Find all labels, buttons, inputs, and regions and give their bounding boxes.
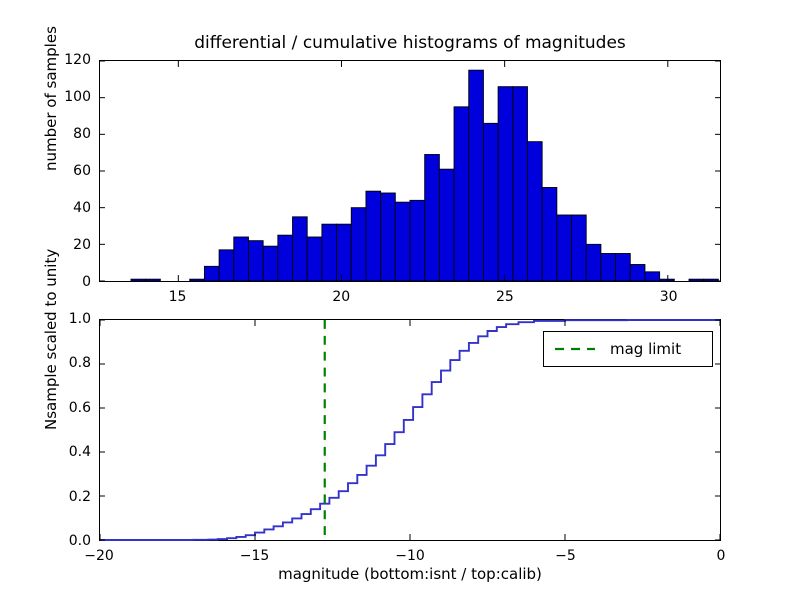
- histogram-bar: [425, 155, 440, 282]
- histogram-bar: [146, 279, 161, 281]
- histogram-bar: [131, 279, 146, 281]
- y-tick-label: 60: [35, 164, 91, 178]
- differential-histogram-axes: [99, 60, 721, 282]
- histogram-bar: [527, 142, 542, 281]
- figure-canvas: differential / cumulative histograms of …: [0, 0, 800, 600]
- histogram-bar: [498, 87, 513, 281]
- y-tick-label: 0.8: [35, 356, 91, 370]
- y-tick-label: 0.2: [35, 490, 91, 504]
- histogram-bar: [381, 193, 396, 281]
- bottom-axis-xlabel: magnitude (bottom:isnt / top:calib): [99, 565, 721, 583]
- y-tick-label: 0.4: [35, 445, 91, 459]
- y-tick-label: 40: [35, 201, 91, 215]
- histogram-bar: [234, 237, 249, 281]
- histogram-bar: [513, 87, 528, 281]
- x-tick-label: 30: [629, 290, 709, 304]
- x-tick-label: 0: [681, 549, 761, 563]
- histogram-bar: [586, 244, 601, 281]
- legend: mag limit: [543, 331, 713, 367]
- histogram-bars: [131, 70, 718, 281]
- histogram-bar: [689, 279, 704, 281]
- mag-limit-swatch-icon: [554, 343, 596, 355]
- page-title: differential / cumulative histograms of …: [99, 33, 721, 53]
- y-tick-label: 0.6: [35, 401, 91, 415]
- histogram-bar: [263, 246, 278, 281]
- histogram-bar: [322, 224, 337, 281]
- y-tick-label: 120: [35, 53, 91, 67]
- histogram-bar: [572, 215, 587, 281]
- histogram-bar: [293, 217, 308, 281]
- x-tick-label: −20: [59, 549, 139, 563]
- histogram-bar: [557, 215, 572, 281]
- histogram-bar: [307, 237, 322, 281]
- histogram-bar: [337, 224, 352, 281]
- histogram-bar: [366, 191, 381, 281]
- y-tick-label: 100: [35, 90, 91, 104]
- histogram-bar: [630, 265, 645, 282]
- x-tick-label: 25: [465, 290, 545, 304]
- histogram-bar: [190, 279, 205, 281]
- histogram-bar: [410, 200, 425, 281]
- legend-label-mag-limit: mag limit: [610, 340, 681, 358]
- histogram-bar: [454, 107, 469, 281]
- histogram-bar: [616, 254, 631, 282]
- histogram-bar: [542, 188, 557, 282]
- histogram-bar: [660, 279, 675, 281]
- histogram-bar: [219, 250, 234, 281]
- x-tick-label: 15: [138, 290, 218, 304]
- y-tick-label: 1.0: [35, 312, 91, 326]
- histogram-bar: [278, 235, 293, 281]
- y-tick-label: 80: [35, 127, 91, 141]
- histogram-bar: [645, 272, 660, 281]
- histogram-bar: [351, 208, 366, 281]
- histogram-bar: [248, 241, 263, 281]
- histogram-bar: [483, 123, 498, 281]
- x-tick-label: −5: [526, 549, 606, 563]
- y-tick-label: 0.0: [35, 534, 91, 548]
- x-tick-label: 20: [301, 290, 381, 304]
- histogram-bar: [439, 169, 454, 281]
- differential-histogram-plot: [100, 61, 720, 281]
- x-tick-label: −15: [215, 549, 295, 563]
- histogram-bar: [204, 266, 219, 281]
- histogram-bar: [469, 70, 484, 281]
- histogram-bar: [601, 254, 616, 282]
- x-tick-label: −10: [370, 549, 450, 563]
- histogram-bar: [395, 202, 410, 281]
